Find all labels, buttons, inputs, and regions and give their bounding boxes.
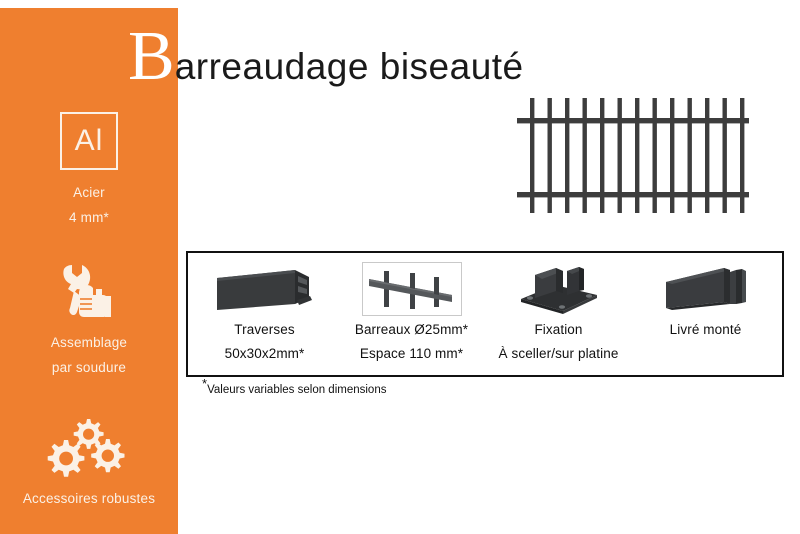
- specifications-panel: Traverses 50x30x2mm*: [186, 251, 784, 377]
- aluminium-symbol-label: Al: [75, 126, 104, 156]
- spec-livre-monte-title: Livré monté: [670, 322, 742, 337]
- title-text: arreaudage biseauté: [175, 46, 524, 87]
- sidebar-item-material-line1: Acier: [0, 180, 178, 205]
- sidebar-item-material: Al Acier 4 mm*: [0, 112, 178, 230]
- footnote: *Valeurs variables selon dimensions: [202, 384, 386, 396]
- product-sheet-page: Al Acier 4 mm*: [0, 0, 800, 534]
- spec-fixation-value: À sceller/sur platine: [499, 346, 619, 361]
- wrench-hand-welding-icon: [0, 260, 178, 322]
- spec-column-fixation: Fixation À sceller/sur platine: [485, 256, 632, 372]
- title-drop-cap: B: [128, 18, 175, 95]
- page-title: Barreaudage biseauté: [128, 26, 524, 88]
- spec-barreaux-title: Barreaux Ø25mm*: [355, 322, 468, 337]
- spec-traverses-title: Traverses: [234, 322, 294, 337]
- aluminium-square-icon: Al: [60, 112, 118, 170]
- spec-fixation-title: Fixation: [534, 322, 582, 337]
- spec-barreaux-value: Espace 110 mm*: [360, 346, 463, 361]
- spec-traverses-value: 50x30x2mm*: [225, 346, 305, 361]
- bars-spacing-diagram-icon: [362, 262, 462, 316]
- assembled-panel-icon: [660, 262, 752, 316]
- sidebar-item-assembly-line2: par soudure: [0, 355, 178, 380]
- footnote-text: Valeurs variables selon dimensions: [207, 384, 386, 396]
- sidebar-item-assembly-line1: Assemblage: [0, 330, 178, 355]
- beveled-railing-fence-illustration: [508, 92, 758, 217]
- spec-column-livre-monte: Livré monté: [632, 256, 779, 372]
- sidebar-item-assembly: Assemblage par soudure: [0, 260, 178, 380]
- post-base-plate-icon: [511, 262, 607, 316]
- spec-column-barreaux: Barreaux Ø25mm* Espace 110 mm*: [338, 256, 485, 372]
- gears-icon: [0, 416, 178, 478]
- sidebar-item-accessories: Accessoires robustes: [0, 416, 178, 511]
- spec-column-traverses: Traverses 50x30x2mm*: [191, 256, 338, 372]
- sidebar-item-material-line2: 4 mm*: [0, 205, 178, 230]
- sidebar-item-accessories-line1: Accessoires robustes: [0, 486, 178, 511]
- rectangular-tube-profile-icon: [213, 262, 317, 316]
